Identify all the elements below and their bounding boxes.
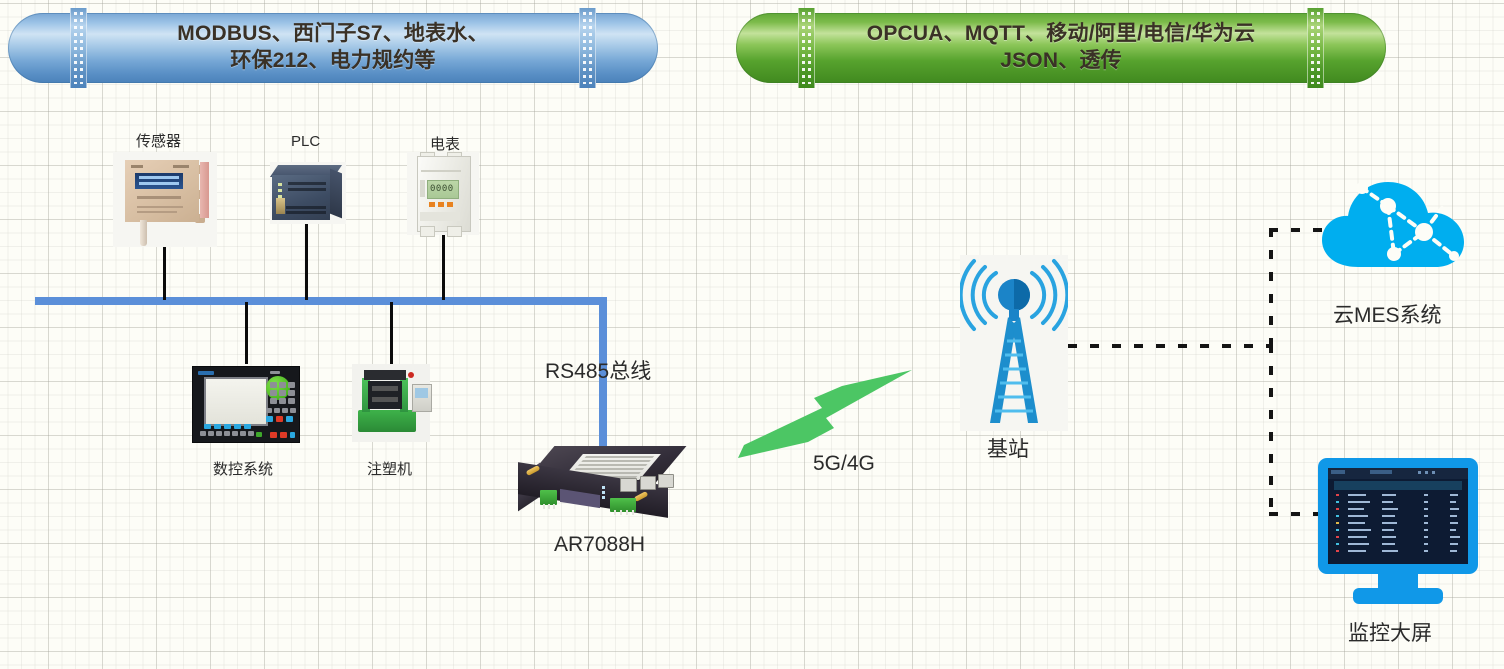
iot-gateway-icon bbox=[518, 446, 688, 524]
molding-label: 注塑机 bbox=[367, 458, 412, 479]
monitor-screen-icon bbox=[1318, 458, 1478, 606]
left-banner-line2: 环保212、电力规约等 bbox=[177, 48, 488, 75]
link-trunk-to-cloud bbox=[1269, 228, 1324, 232]
diagram-canvas bbox=[0, 0, 1504, 669]
right-banner-line2: JSON、透传 bbox=[867, 48, 1255, 75]
wire-sensor bbox=[163, 238, 166, 300]
wire-molding bbox=[390, 302, 393, 364]
rs485-bus-horizontal bbox=[35, 297, 607, 305]
cloud-network-icon bbox=[1318, 172, 1470, 277]
meter-label: 电表 bbox=[430, 133, 460, 154]
power-meter-icon: 0000 bbox=[407, 152, 479, 235]
cloud-label: 云MES系统 bbox=[1333, 299, 1442, 329]
link-tower-to-trunk bbox=[1068, 344, 1273, 348]
left-protocol-banner: MODBUS、西门子S7、地表水、 环保212、电力规约等 bbox=[8, 13, 658, 83]
sensor-device-icon bbox=[113, 152, 217, 247]
plc-device-icon bbox=[270, 162, 346, 224]
wire-meter bbox=[442, 232, 445, 300]
gateway-label: AR7088H bbox=[554, 533, 645, 557]
link-trunk-down-to-monitor bbox=[1269, 344, 1273, 516]
banner-flange-left bbox=[798, 8, 815, 88]
banner-flange-right bbox=[579, 8, 596, 88]
cell-tower-icon bbox=[960, 255, 1068, 431]
link-trunk-to-monitor bbox=[1269, 512, 1321, 516]
cnc-controller-icon bbox=[192, 366, 300, 443]
cnc-label: 数控系统 bbox=[213, 458, 273, 479]
right-protocol-banner: OPCUA、MQTT、移动/阿里/电信/华为云 JSON、透传 bbox=[736, 13, 1386, 83]
injection-molding-machine-icon bbox=[352, 364, 430, 442]
wire-cnc bbox=[245, 302, 248, 364]
wireless-label: 5G/4G bbox=[813, 452, 875, 476]
plc-label: PLC bbox=[291, 133, 320, 150]
sensor-label: 传感器 bbox=[136, 130, 181, 151]
left-banner-line1: MODBUS、西门子S7、地表水、 bbox=[177, 21, 488, 48]
right-banner-line1: OPCUA、MQTT、移动/阿里/电信/华为云 bbox=[867, 21, 1255, 48]
link-trunk-up-to-cloud bbox=[1269, 228, 1273, 348]
banner-flange-left bbox=[70, 8, 87, 88]
base-station-label: 基站 bbox=[987, 433, 1029, 463]
banner-flange-right bbox=[1307, 8, 1324, 88]
monitor-label: 监控大屏 bbox=[1348, 617, 1432, 647]
wire-plc bbox=[305, 222, 308, 300]
rs485-bus-label: RS485总线 bbox=[545, 355, 651, 385]
